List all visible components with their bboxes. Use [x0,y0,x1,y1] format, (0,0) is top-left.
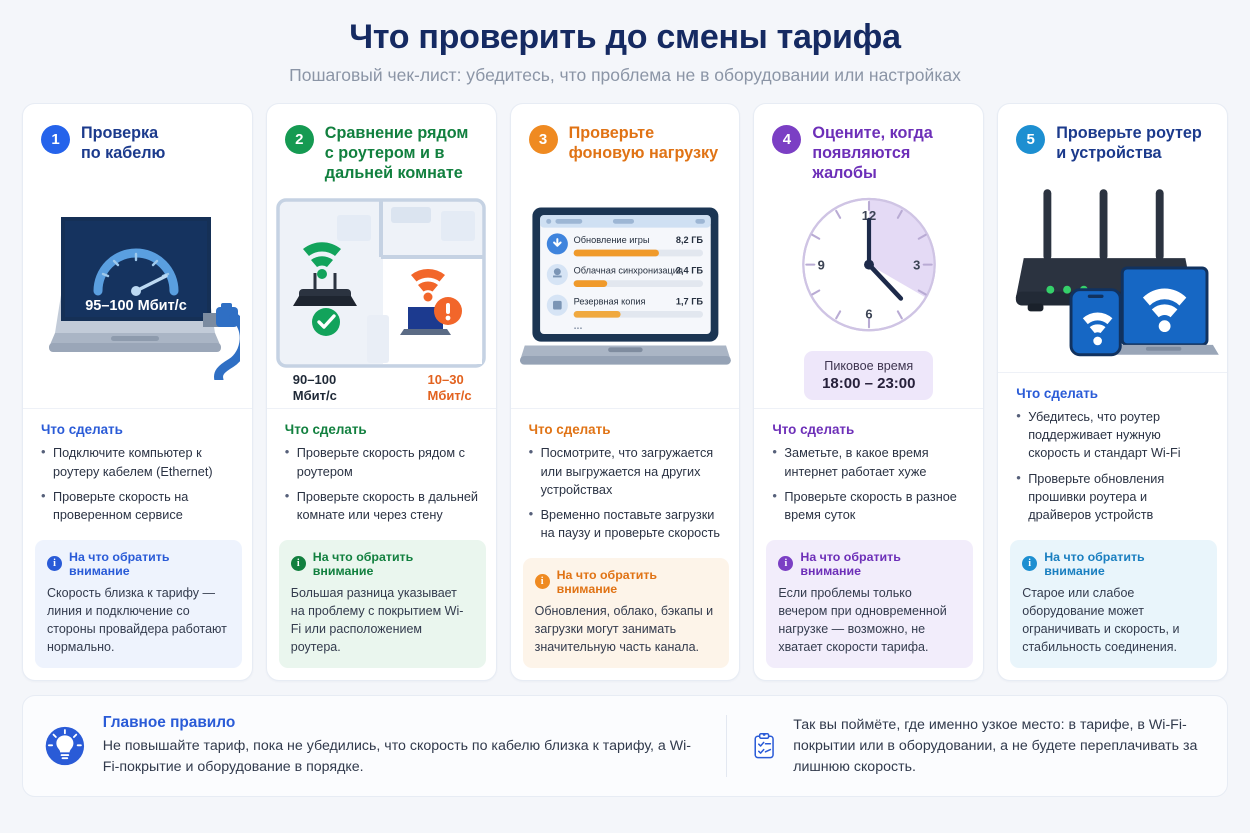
note-text-2: Большая разница указывает на проблему с … [291,584,474,657]
note-box-4: i На что обратить внимание Если проблемы… [766,540,973,669]
page-header: Что проверить до смены тарифа Пошаговый … [22,14,1228,86]
footer-summary: Главное правило Не повышайте тариф, пока… [22,695,1228,797]
progress-bar [573,280,607,287]
todo-list-3: Посмотрите, что загружается или выгружае… [529,444,724,549]
card-header-4: 4 Оцените, когда появляются жалобы [754,104,983,191]
info-icon: i [535,574,550,589]
download-name: Облачная синхронизация [573,266,682,276]
step-badge-2: 2 [285,125,314,154]
todo-list-2: Проверьте скорость рядом с роутером Пров… [285,444,480,531]
more-indicator: ... [573,320,582,332]
page-subtitle: Пошаговый чек-лист: убедитесь, что пробл… [22,65,1228,86]
router-led [1063,285,1071,293]
floorplan-wifi-icon [275,197,487,369]
clock-mark-3: 3 [913,258,920,273]
footer-main-rule: Главное правило Не повышайте тариф, пока… [45,714,706,777]
card-body-3: Что сделать Посмотрите, что загружается … [511,408,740,549]
clock-peak-icon: 12 3 6 9 [793,193,945,342]
illustration-router-devices [998,172,1227,372]
illustration-floorplan-wifi [267,191,496,380]
note-header-2: i На что обратить внимание [291,550,474,578]
card-header-5: 5 Проверьте роутер и устройства [998,104,1227,172]
note-box-3: i На что обратить внимание Обновления, о… [523,558,730,668]
note-box-2: i На что обратить внимание Большая разни… [279,540,486,669]
footer-rule-text-block: Главное правило Не повышайте тариф, пока… [103,714,706,777]
note-header-4: i На что обратить внимание [778,550,961,578]
todo-item: Подключите компьютер к роутеру кабелем (… [41,444,236,481]
todo-list-1: Подключите компьютер к роутеру кабелем (… [41,444,236,531]
todo-item: Убедитесь, что роутер поддерживает нужну… [1016,408,1211,463]
todo-item: Временно поставьте загрузки на паузу и п… [529,506,724,543]
check-badge-icon [312,308,340,336]
info-icon: i [778,556,793,571]
todo-label-5: Что сделать [1016,386,1211,401]
download-size: 8,2 ГБ [675,235,703,245]
peak-time-chip: Пиковое время 18:00 – 23:00 [804,351,933,401]
note-title: На что обратить внимание [313,550,474,578]
note-box-1: i На что обратить внимание Скорость близ… [35,540,242,669]
card-body-5: Что сделать Убедитесь, что роутер поддер… [998,372,1227,532]
note-text-5: Старое или слабое оборудование может огр… [1022,584,1205,657]
step-card-1[interactable]: 1 Проверка по кабелю [22,103,253,681]
todo-item: Заметьте, в какое время интернет работае… [772,444,967,481]
card-title-4: Оцените, когда появляются жалобы [812,124,967,183]
illustration-clock-peak: 12 3 6 9 Пиковое время 18:00 – 23:00 [754,191,983,408]
clipboard-check-icon [753,716,775,776]
todo-item: Проверьте скорость в дальней комнате или… [285,488,480,525]
info-icon: i [47,556,62,571]
clock-mark-9: 9 [817,258,824,273]
todo-item: Проверьте скорость в разное время суток [772,488,967,525]
download-name: Обновление игры [573,235,649,245]
step-card-5[interactable]: 5 Проверьте роутер и устройства [997,103,1228,681]
footer-rule-text: Не повышайте тариф, пока не убедились, ч… [103,736,706,777]
card-body-2: Что сделать Проверьте скорость рядом с р… [267,408,496,531]
note-title: На что обратить внимание [557,568,718,596]
note-title: На что обратить внимание [69,550,230,578]
download-name: Резервная копия [573,296,645,306]
card-header-1: 1 Проверка по кабелю [23,104,252,172]
todo-label-1: Что сделать [41,422,236,437]
steps-grid: 1 Проверка по кабелю [22,103,1228,681]
step-card-4[interactable]: 4 Оцените, когда появляются жалобы [753,103,984,681]
footer-outcome: Так вы поймёте, где именно узкое место: … [726,715,1205,778]
router-led [1047,285,1055,293]
info-icon: i [1022,556,1037,571]
todo-item: Проверьте обновления прошивки роутера и … [1016,470,1211,525]
step-badge-3: 3 [529,125,558,154]
todo-item: Проверьте скорость рядом с роутером [285,444,480,481]
step-card-3[interactable]: 3 Проверьте фоновую нагрузку Обновление … [510,103,741,681]
router-devices-icon [1006,180,1219,358]
footer-outcome-text: Так вы поймёте, где именно узкое место: … [793,715,1205,778]
step-badge-1: 1 [41,125,70,154]
card-title-3: Проверьте фоновую нагрузку [569,124,719,164]
step-card-2[interactable]: 2 Сравнение рядом с роутером и в дальней… [266,103,497,681]
todo-list-4: Заметьте, в какое время интернет работае… [772,444,967,531]
todo-label-4: Что сделать [772,422,967,437]
speed-readout-label: 95–100 Мбит/с [85,298,187,314]
card-title-5: Проверьте роутер и устройства [1056,124,1202,164]
peak-time-value: 18:00 – 23:00 [822,374,915,394]
step-badge-4: 4 [772,125,801,154]
progress-bar [573,250,658,257]
card-title-2: Сравнение рядом с роутером и в дальней к… [325,124,469,183]
step-badge-5: 5 [1016,125,1045,154]
todo-list-5: Убедитесь, что роутер поддерживает нужну… [1016,408,1211,532]
card-header-2: 2 Сравнение рядом с роутером и в дальней… [267,104,496,191]
card-body-1: Что сделать Подключите компьютер к роуте… [23,408,252,531]
illustration-laptop-downloads: Обновление игры 8,2 ГБ Облачная синхрони… [511,172,740,409]
note-text-1: Скорость близка к тарифу — линия и подкл… [47,584,230,657]
note-box-5: i На что обратить внимание Старое или сл… [1010,540,1217,669]
note-header-1: i На что обратить внимание [47,550,230,578]
todo-label-2: Что сделать [285,422,480,437]
clock-mark-6: 6 [865,307,872,322]
footer-rule-title: Главное правило [103,714,706,732]
page-title: Что проверить до смены тарифа [22,18,1228,56]
card-title-1: Проверка по кабелю [81,124,165,164]
download-size: 1,7 ГБ [675,296,703,306]
note-header-5: i На что обратить внимание [1022,550,1205,578]
laptop-downloads-icon: Обновление игры 8,2 ГБ Облачная синхрони… [519,198,732,376]
note-title: На что обратить внимание [1044,550,1205,578]
card-body-4: Что сделать Заметьте, в какое время инте… [754,408,983,531]
todo-item: Проверьте скорость на проверенном сервис… [41,488,236,525]
note-text-3: Обновления, облако, бэкапы и загрузки мо… [535,602,718,656]
infographic-page: Что проверить до смены тарифа Пошаговый … [0,0,1250,833]
note-header-3: i На что обратить внимание [535,568,718,596]
card-header-3: 3 Проверьте фоновую нагрузку [511,104,740,172]
lightbulb-icon [45,718,85,774]
note-text-4: Если проблемы только вечером при одновре… [778,584,961,657]
info-icon: i [291,556,306,571]
peak-time-label: Пиковое время [822,358,915,374]
laptop-ethernet-icon: 95–100 Мбит/с [35,195,240,380]
note-title: На что обратить внимание [800,550,961,578]
todo-label-3: Что сделать [529,422,724,437]
todo-item: Посмотрите, что загружается или выгружае… [529,444,724,499]
progress-bar [573,311,620,318]
download-size: 2,4 ГБ [675,266,703,276]
illustration-laptop-ethernet: 95–100 Мбит/с [23,172,252,409]
